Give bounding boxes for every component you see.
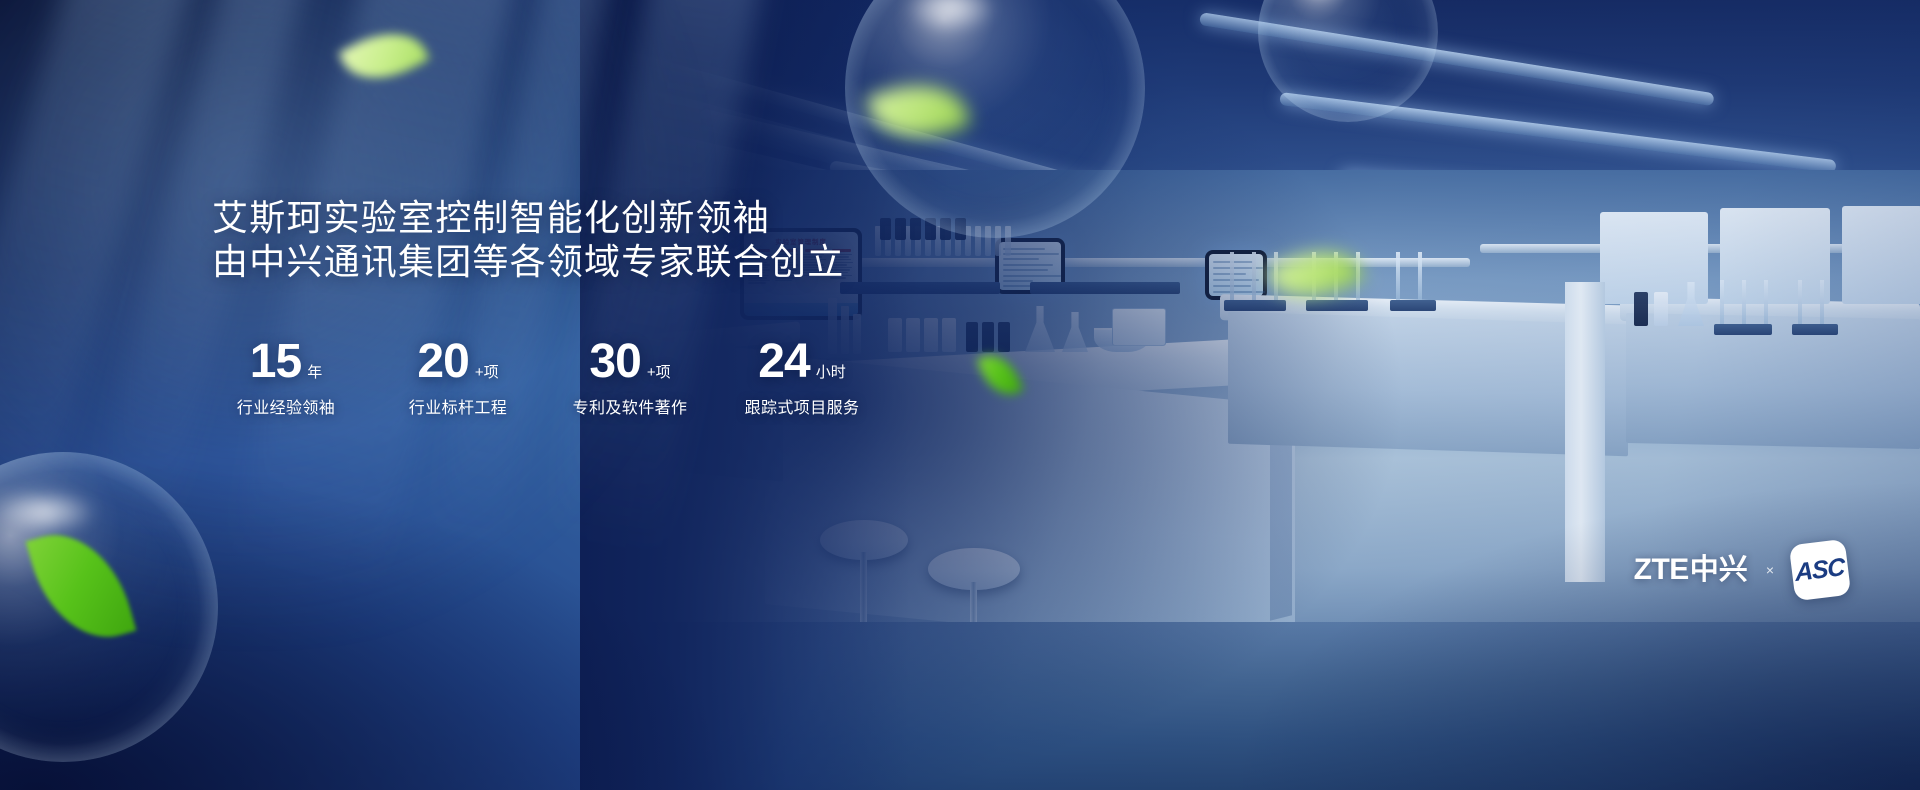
corner-shading (0, 0, 1920, 790)
hero-banner: 实验室管理制度 (0, 0, 1920, 790)
